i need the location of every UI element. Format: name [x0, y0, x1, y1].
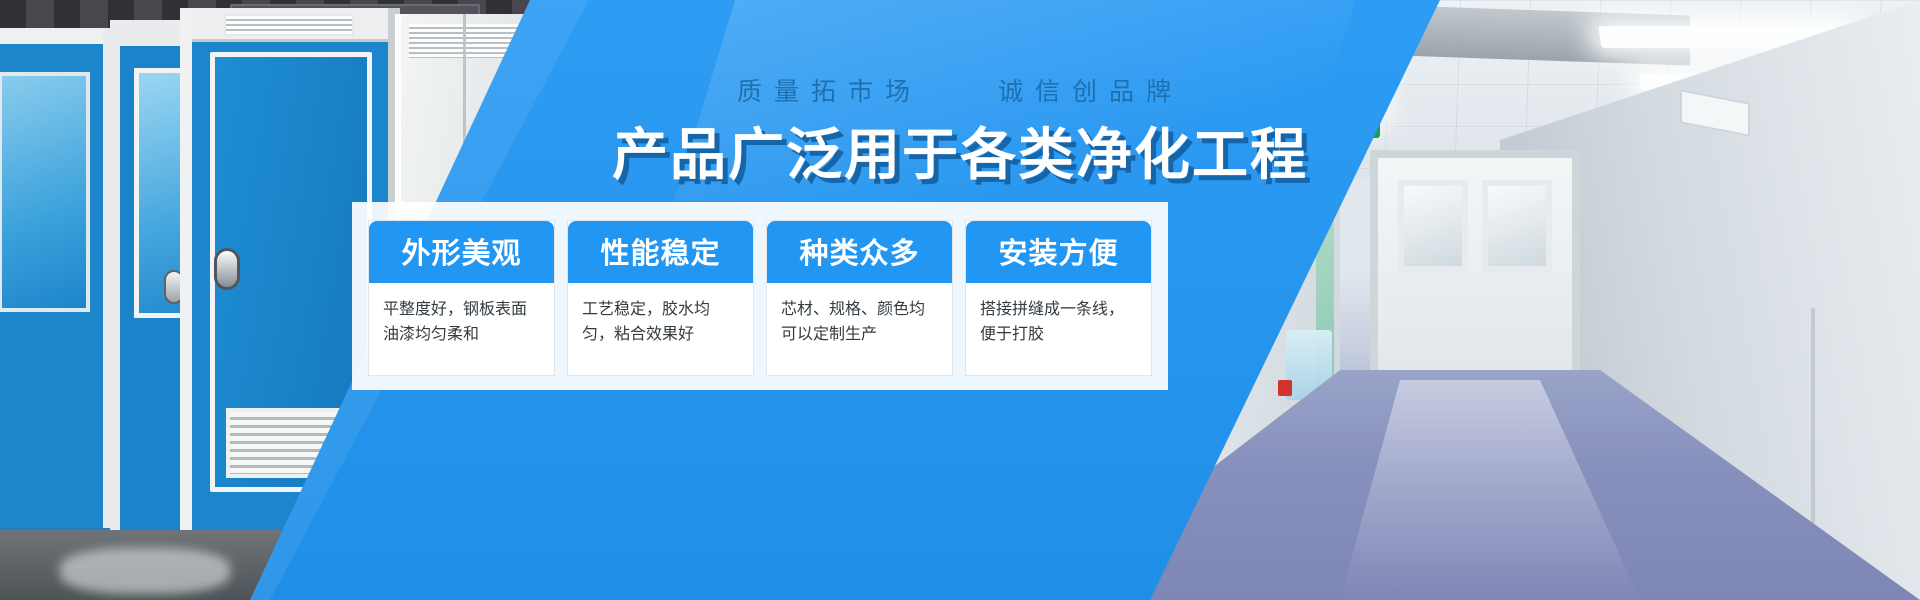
feature-card-strip: 外形美观 平整度好，钢板表面油漆均匀柔和 性能稳定 工艺稳定，胶水均匀，粘合效果… [352, 202, 1168, 390]
feature-card-4[interactable]: 安装方便 搭接拼缝成一条线，便于打胶 [965, 220, 1152, 376]
feature-card-1[interactable]: 外形美观 平整度好，钢板表面油漆均匀柔和 [368, 220, 555, 376]
feature-card-3[interactable]: 种类众多 芯材、规格、颜色均可以定制生产 [766, 220, 953, 376]
feature-card-3-body: 芯材、规格、颜色均可以定制生产 [767, 283, 952, 375]
feature-card-4-title: 安装方便 [966, 221, 1151, 283]
tagline-right: 诚信创品牌 [998, 77, 1183, 106]
promo-banner: 质量拓市场 诚信创品牌 产品广泛用于各类净化工程 外形美观 平整度好，钢板表面油… [0, 0, 1920, 600]
feature-card-1-title: 外形美观 [369, 221, 554, 283]
feature-card-3-title: 种类众多 [767, 221, 952, 283]
feature-card-2-body: 工艺稳定，胶水均匀，粘合效果好 [568, 283, 753, 375]
banner-tagline: 质量拓市场 诚信创品牌 [0, 72, 1920, 108]
tagline-left: 质量拓市场 [737, 77, 922, 106]
feature-card-2-title: 性能稳定 [568, 221, 753, 283]
feature-card-1-body: 平整度好，钢板表面油漆均匀柔和 [369, 283, 554, 375]
banner-headline: 产品广泛用于各类净化工程 [0, 110, 1920, 191]
feature-card-4-body: 搭接拼缝成一条线，便于打胶 [966, 283, 1151, 375]
banner-content: 质量拓市场 诚信创品牌 产品广泛用于各类净化工程 外形美观 平整度好，钢板表面油… [0, 0, 1920, 600]
feature-card-2[interactable]: 性能稳定 工艺稳定，胶水均匀，粘合效果好 [567, 220, 754, 376]
